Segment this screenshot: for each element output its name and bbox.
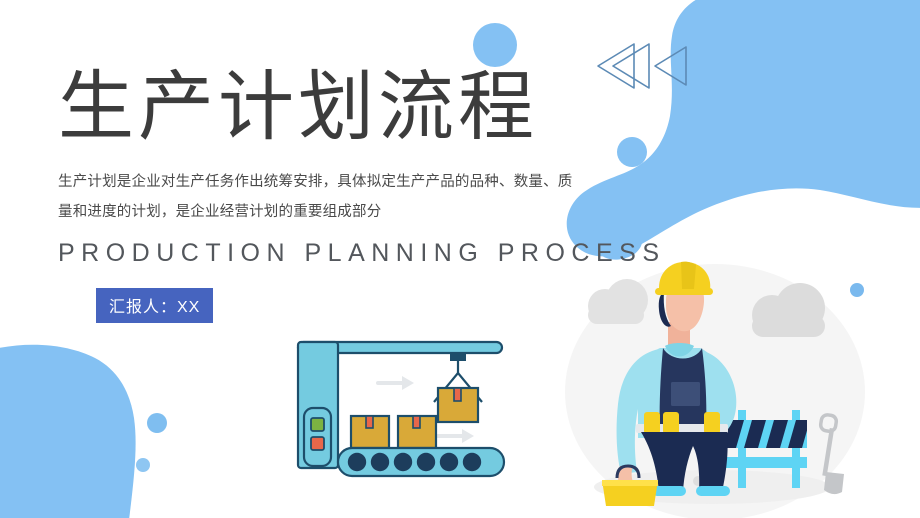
conveyor-box-1-tape [366, 416, 373, 428]
conveyor-roller [371, 453, 389, 471]
conveyor-box-1 [351, 416, 389, 448]
worker-legs [641, 432, 728, 492]
worker-hand [618, 466, 634, 486]
cloud-icon [752, 283, 825, 337]
worker-boot-left [652, 486, 686, 496]
worker-chest-pocket [671, 382, 700, 406]
worker-hair [659, 292, 671, 327]
subtitle-chinese: 生产计划是企业对生产任务作出统筹安排，具体拟定生产产品的品种、数量、质量和进度的… [58, 168, 583, 227]
worker-head [666, 280, 704, 331]
worker-overalls-bib [660, 348, 707, 434]
subtitle-english: PRODUCTION PLANNING PROCESS [58, 239, 618, 268]
construction-barrier [722, 410, 810, 488]
worker-tool-belt [636, 424, 728, 433]
gantry-column [298, 342, 338, 468]
worker-boot-right [696, 486, 730, 496]
worker-arm-back [617, 349, 666, 474]
presentation-slide: 生产计划流程 生产计划是企业对生产任务作出统筹安排，具体拟定生产产品的品种、数量… [0, 0, 920, 518]
presenter-badge: 汇报人：XX [96, 288, 213, 323]
control-panel [304, 408, 331, 466]
crane-box-tape [454, 388, 461, 401]
circle-left-lower [147, 413, 167, 433]
page-title: 生产计划流程 [58, 70, 618, 146]
flow-arrow-upper [376, 376, 414, 390]
worker-arm-front [700, 352, 736, 440]
blob-top-right [567, 0, 920, 256]
indicator-light-red [311, 437, 324, 450]
worker-belt-pouches [644, 412, 720, 434]
worker-neck [668, 322, 690, 348]
gantry-beam [298, 342, 502, 353]
circle-left-small [136, 458, 150, 472]
worker-hard-hat-brim [655, 288, 713, 295]
shovel-icon [820, 414, 844, 494]
worker-collar [665, 343, 694, 357]
worker-shirt [638, 348, 724, 438]
conveyor-roller [440, 453, 458, 471]
circle-top-center [473, 23, 517, 67]
circle-upper-right [617, 137, 647, 167]
construction-worker [602, 262, 736, 506]
crane-sling [434, 373, 482, 402]
conveyor-belt [338, 448, 504, 476]
conveyor-box-2 [398, 416, 436, 448]
title-text-block: 生产计划流程 生产计划是企业对生产任务作出统筹安排，具体拟定生产产品的品种、数量… [58, 70, 618, 323]
worker-toolbox [602, 466, 658, 506]
conveyor-roller [417, 453, 435, 471]
crane-mount [450, 353, 466, 361]
conveyor-roller [463, 453, 481, 471]
blob-bottom-left [0, 345, 136, 518]
conveyor-box-2-tape [413, 416, 420, 428]
conveyor-roller [348, 453, 366, 471]
indicator-light-green [311, 418, 324, 431]
rubble [693, 468, 722, 486]
conveyor-roller [394, 453, 412, 471]
flow-arrow-lower [436, 429, 474, 443]
worker-hard-hat [659, 262, 710, 292]
ground-shadow [594, 470, 830, 504]
crane-box [438, 388, 478, 422]
worker-hard-hat-ridge [681, 262, 696, 289]
circle-mid-right [850, 283, 864, 297]
